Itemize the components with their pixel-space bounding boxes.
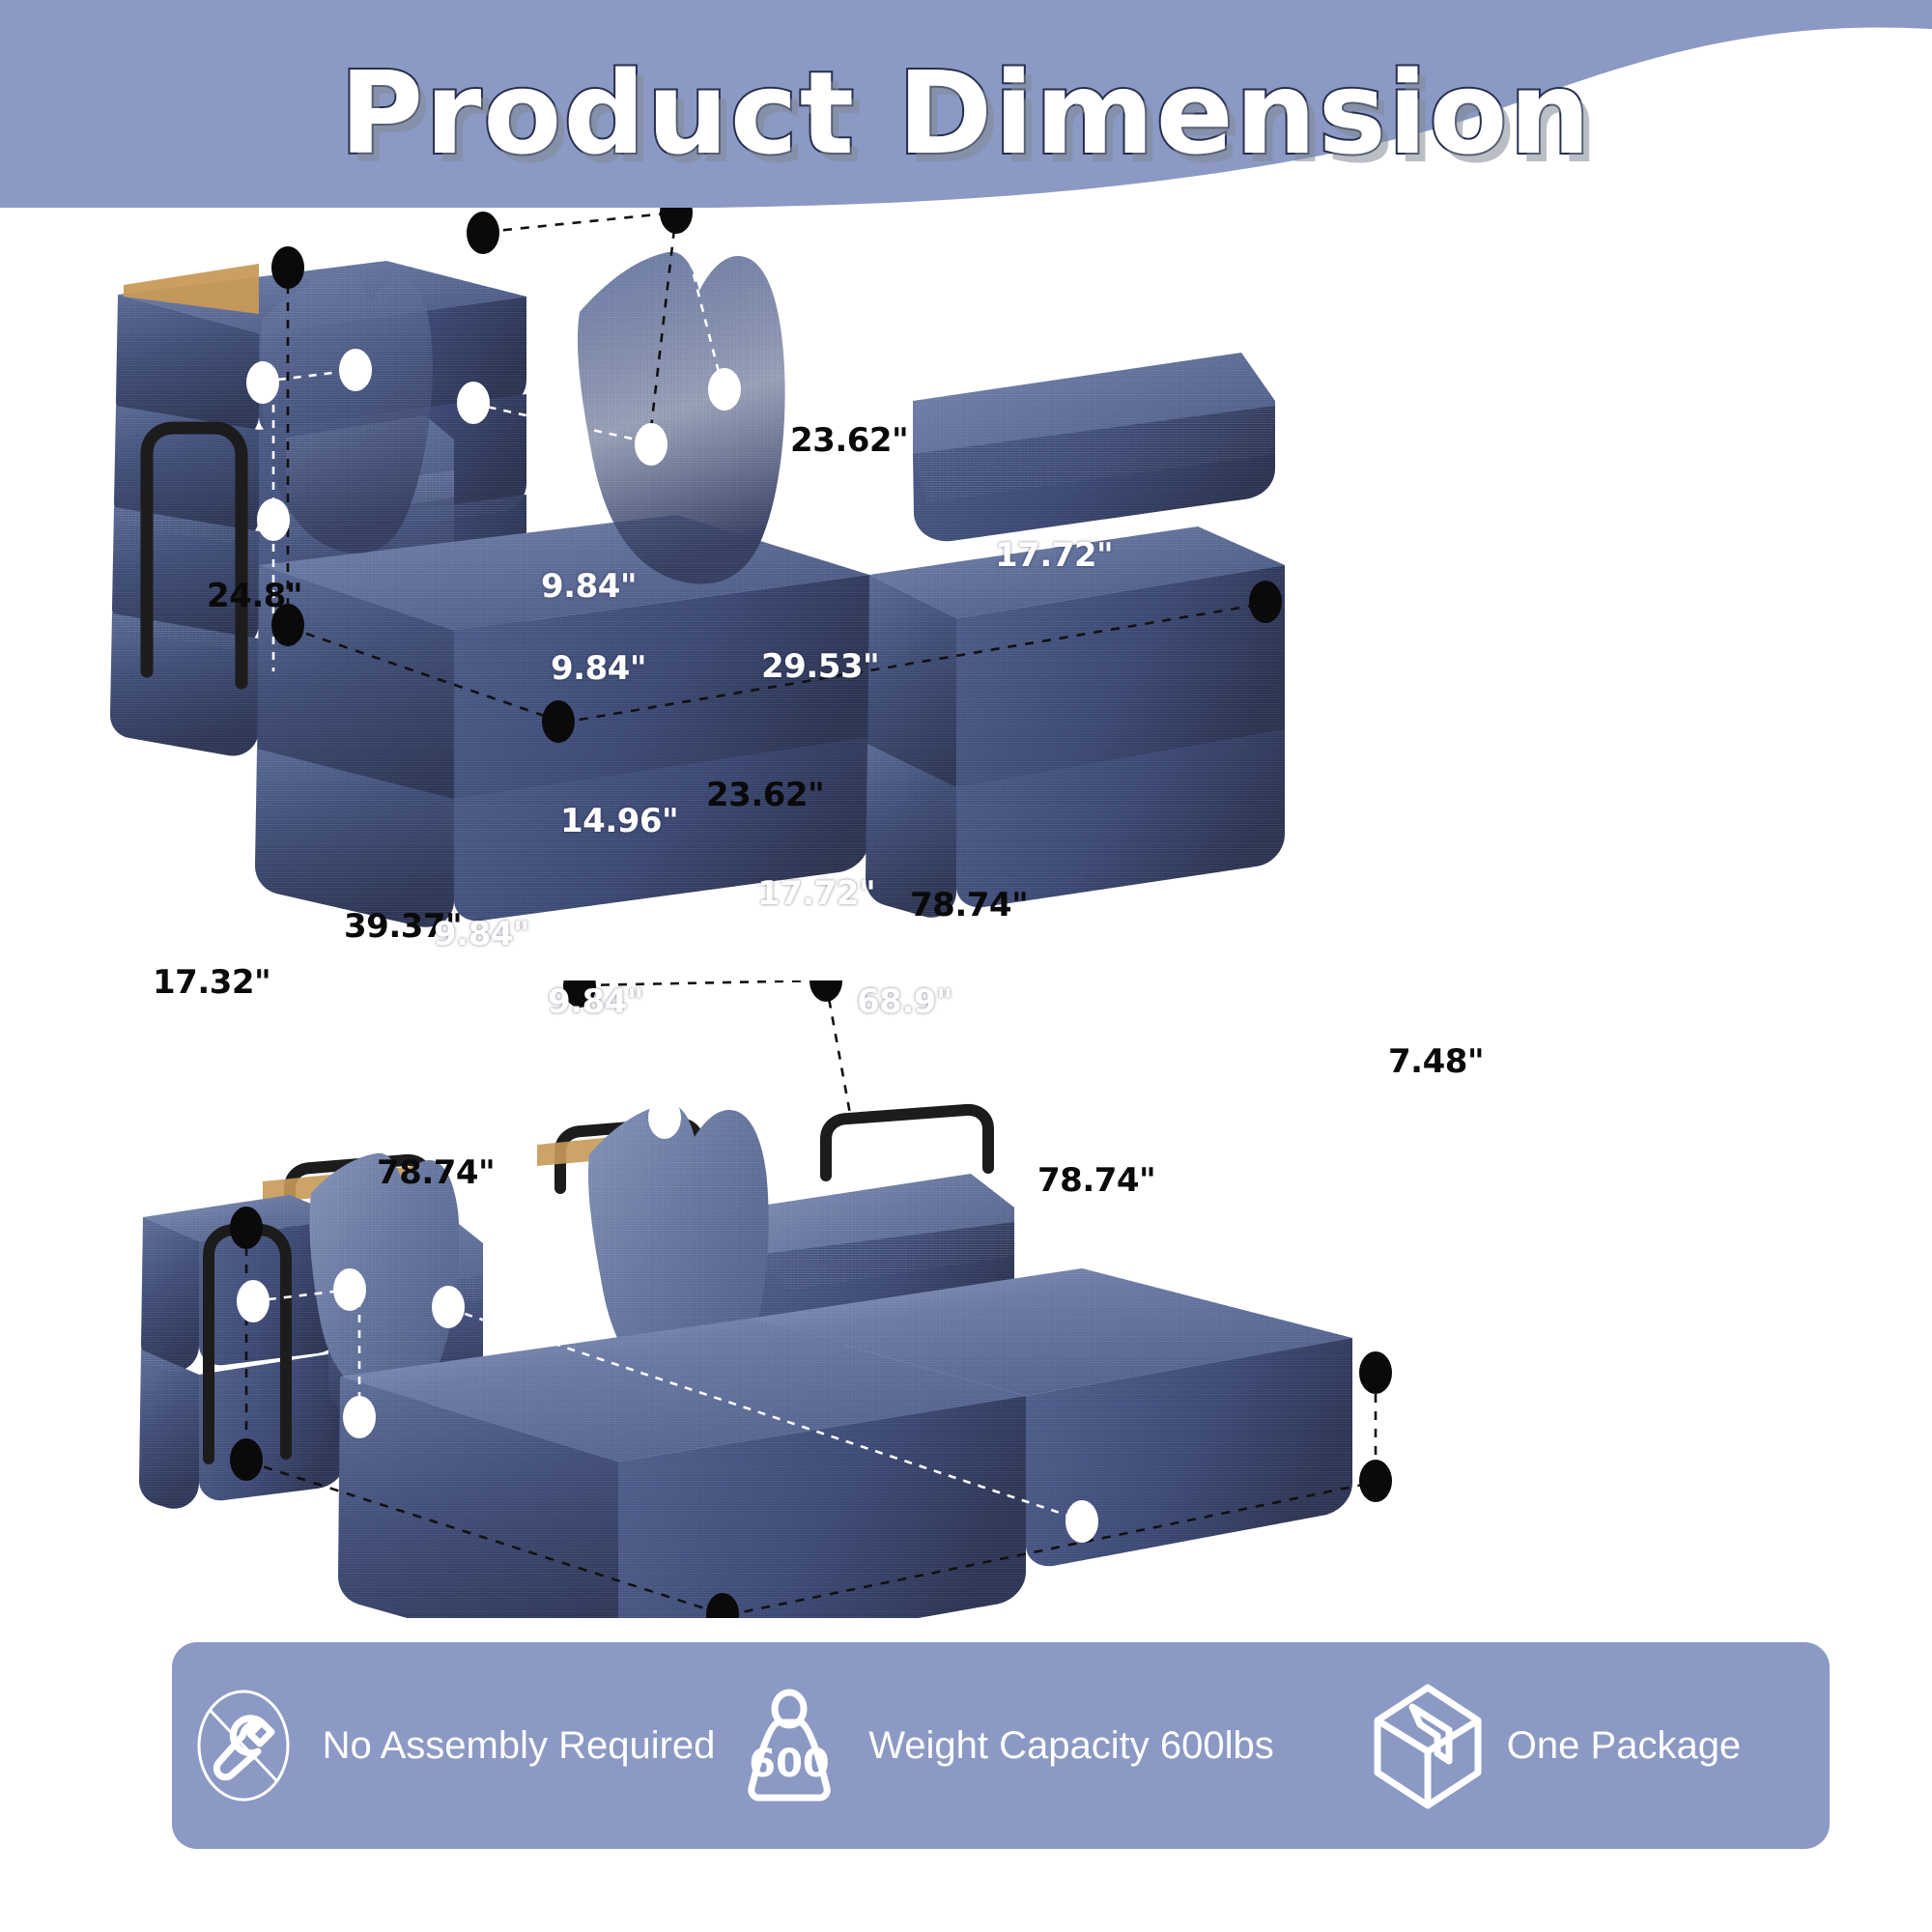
no-assembly-icon: [182, 1684, 305, 1807]
feature-one-package: One Package: [1277, 1680, 1830, 1811]
bed-illustration: [0, 980, 1932, 1618]
dim-bed-backrest-height: 17.72": [757, 874, 875, 913]
dim-sofa-backrest-height: 17.72": [995, 536, 1113, 575]
dim-bed-overall-height: 17.32": [153, 963, 270, 1002]
weight-capacity-icon: 600: [727, 1684, 851, 1807]
one-package-icon: [1366, 1680, 1490, 1811]
feature-no-assembly-label: No Assembly Required: [323, 1724, 716, 1768]
dim-sofa-overall-height: 24.8": [207, 577, 302, 615]
feature-bar: No Assembly Required 600 Weight Capacity…: [172, 1642, 1830, 1849]
dim-bed-arm-width: 9.84": [434, 915, 529, 953]
page-header: Product Dimension: [0, 0, 1932, 208]
dim-sofa-seat-height: 14.96": [560, 802, 678, 840]
dim-bed-left-width: 78.74": [377, 1153, 495, 1192]
dim-bed-arm-height: 9.84": [548, 982, 643, 1021]
dim-sofa-pillow-width: 23.62": [790, 421, 908, 460]
feature-no-assembly: No Assembly Required: [172, 1684, 724, 1807]
dim-bed-sleep-length: 68.9": [857, 982, 952, 1021]
dim-sofa-arm-width: 9.84": [541, 567, 637, 606]
feature-weight-capacity-label: Weight Capacity 600lbs: [868, 1724, 1274, 1768]
dim-sofa-seat-depth: 29.53": [761, 647, 879, 686]
dim-bed-right-width: 78.74": [1037, 1161, 1155, 1200]
sofa-view: 23.62" 17.72" 24.8" 9.84" 9.84" 29.53" 1…: [0, 208, 1932, 980]
dim-sofa-overall-width: 78.74": [910, 886, 1028, 924]
dim-sofa-arm-height: 9.84": [551, 649, 646, 688]
page-title: Product Dimension: [0, 46, 1932, 180]
feature-one-package-label: One Package: [1507, 1724, 1741, 1768]
dim-bed-mattress-height: 7.48": [1388, 1042, 1484, 1081]
weight-badge-value: 600: [750, 1742, 831, 1786]
feature-weight-capacity: 600 Weight Capacity 600lbs: [724, 1684, 1277, 1807]
dim-bed-pillow-width: 23.62": [706, 776, 824, 814]
bed-view: 23.62" 17.72" 17.32" 9.84" 9.84" 68.9" 7…: [0, 980, 1932, 1618]
